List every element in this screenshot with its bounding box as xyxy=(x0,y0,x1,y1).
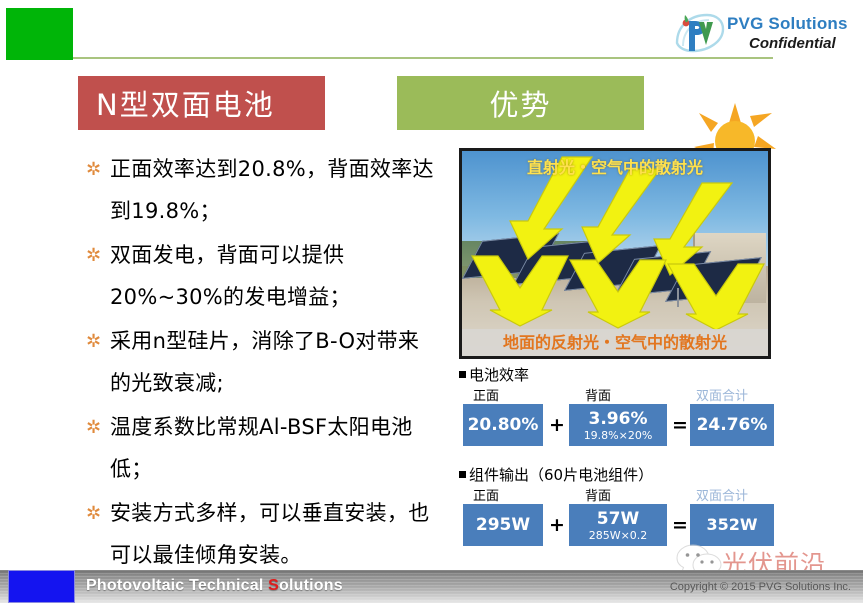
list-item: ✲ 正面效率达到20.8%，背面效率达到19.8%； xyxy=(84,148,434,232)
value-text: 3.96% xyxy=(589,409,648,429)
list-item-label: 温度系数比常规Al-BSF太阳电池低； xyxy=(110,406,434,490)
slide-bottom-edge xyxy=(0,603,863,609)
list-item: ✲ 温度系数比常规Al-BSF太阳电池低； xyxy=(84,406,434,490)
slide-canvas: PVG Solutions Confidential N型双面电池 优势 ✲ 正… xyxy=(0,0,863,609)
title-bar-left: N型双面电池 xyxy=(78,76,325,130)
asterisk-bullet-icon: ✲ xyxy=(84,234,110,318)
value-text: 352W xyxy=(706,515,757,535)
module-output-front-value: 295W xyxy=(463,504,543,546)
column-header-front: 正面 xyxy=(473,385,499,404)
advantages-list: ✲ 正面效率达到20.8%，背面效率达到19.8%； ✲ 双面发电，背面可以提供… xyxy=(84,148,434,578)
footer-bar: Photovoltaic Technical Solutions Copyrig… xyxy=(0,570,863,603)
list-item-label: 采用n型硅片，消除了B-O对带来的光致衰减; xyxy=(110,320,434,404)
asterisk-bullet-icon: ✲ xyxy=(84,492,110,576)
copyright-text: Copyright © 2015 PVG Solutions Inc. xyxy=(670,581,851,593)
list-item: ✲ 安装方式多样，可以垂直安装，也可以最佳倾角安装。 xyxy=(84,492,434,576)
cell-efficiency-headers: 正面 背面 双面合计 xyxy=(459,385,789,404)
arrow-icon xyxy=(468,252,768,332)
square-bullet-icon xyxy=(459,371,466,378)
value-text: 57W xyxy=(597,509,639,529)
logo-text: PVG Solutions xyxy=(727,14,848,34)
list-item-label: 正面效率达到20.8%，背面效率达到19.8%； xyxy=(110,148,434,232)
column-header-back: 背面 xyxy=(585,385,611,404)
footer-title-part1: Photovoltaic Technical xyxy=(86,577,268,594)
square-bullet-icon xyxy=(459,471,466,478)
pvg-leaf-logo-icon xyxy=(673,13,725,55)
column-header-total: 双面合计 xyxy=(696,385,748,404)
cell-efficiency-title: 电池效率 xyxy=(459,366,789,385)
formula-text: 285W×0.2 xyxy=(589,529,648,542)
brand-logo: PVG Solutions Confidential xyxy=(667,11,853,61)
title-left-label: N型双面电池 xyxy=(96,82,275,124)
column-header-front: 正面 xyxy=(473,485,499,504)
header-green-block xyxy=(6,8,73,60)
plus-operator: + xyxy=(549,514,565,536)
module-output-values: 295W + 57W 285W×0.2 = 352W xyxy=(459,504,789,546)
module-output-table: 组件输出（60片电池组件） 正面 背面 双面合计 295W + 57W 285W… xyxy=(459,466,789,546)
footer-blue-block xyxy=(8,570,75,603)
plus-operator: + xyxy=(549,414,565,436)
column-header-back: 背面 xyxy=(585,485,611,504)
module-output-title: 组件输出（60片电池组件） xyxy=(459,466,789,485)
photo-bottom-label: 地面的反射光・空气中的散射光 xyxy=(462,332,768,353)
footer-title-accent: S xyxy=(268,577,279,594)
cell-efficiency-back-value: 3.96% 19.8%×20% xyxy=(569,404,667,446)
value-text: 24.76% xyxy=(697,415,768,435)
cell-efficiency-table: 电池效率 正面 背面 双面合计 20.80% + 3.96% 19.8%×20%… xyxy=(459,366,789,446)
cell-efficiency-front-value: 20.80% xyxy=(463,404,543,446)
asterisk-bullet-icon: ✲ xyxy=(84,320,110,404)
logo-confidential-label: Confidential xyxy=(749,35,836,52)
asterisk-bullet-icon: ✲ xyxy=(84,406,110,490)
list-item-label: 安装方式多样，可以垂直安装，也可以最佳倾角安装。 xyxy=(110,492,434,576)
equals-operator: = xyxy=(672,414,688,436)
list-item-label: 双面发电，背面可以提供20%~30%的发电增益； xyxy=(110,234,434,318)
module-output-total-value: 352W xyxy=(690,504,774,546)
equals-operator: = xyxy=(672,514,688,536)
photo-top-label: 直射光・空气中的散射光 xyxy=(462,157,768,178)
title-right-label: 优势 xyxy=(489,82,551,124)
module-output-back-value: 57W 285W×0.2 xyxy=(569,504,667,546)
title-bar-right: 优势 xyxy=(397,76,644,130)
cell-efficiency-title-label: 电池效率 xyxy=(469,366,529,384)
footer-title: Photovoltaic Technical Solutions xyxy=(86,577,343,595)
module-output-title-label: 组件输出（60片电池组件） xyxy=(469,466,653,484)
bifacial-solar-array-photo: 直射光・空气中的散射光 地面的反射光・空气中的散射光 xyxy=(459,148,771,359)
list-item: ✲ 双面发电，背面可以提供20%~30%的发电增益； xyxy=(84,234,434,318)
cell-efficiency-values: 20.80% + 3.96% 19.8%×20% = 24.76% xyxy=(459,404,789,446)
list-item: ✲ 采用n型硅片，消除了B-O对带来的光致衰减; xyxy=(84,320,434,404)
formula-text: 19.8%×20% xyxy=(584,429,653,442)
asterisk-bullet-icon: ✲ xyxy=(84,148,110,232)
module-output-headers: 正面 背面 双面合计 xyxy=(459,485,789,504)
value-text: 295W xyxy=(476,515,530,535)
footer-title-part2: olutions xyxy=(279,577,343,594)
column-header-total: 双面合计 xyxy=(696,485,748,504)
value-text: 20.80% xyxy=(468,415,539,435)
cell-efficiency-total-value: 24.76% xyxy=(690,404,774,446)
